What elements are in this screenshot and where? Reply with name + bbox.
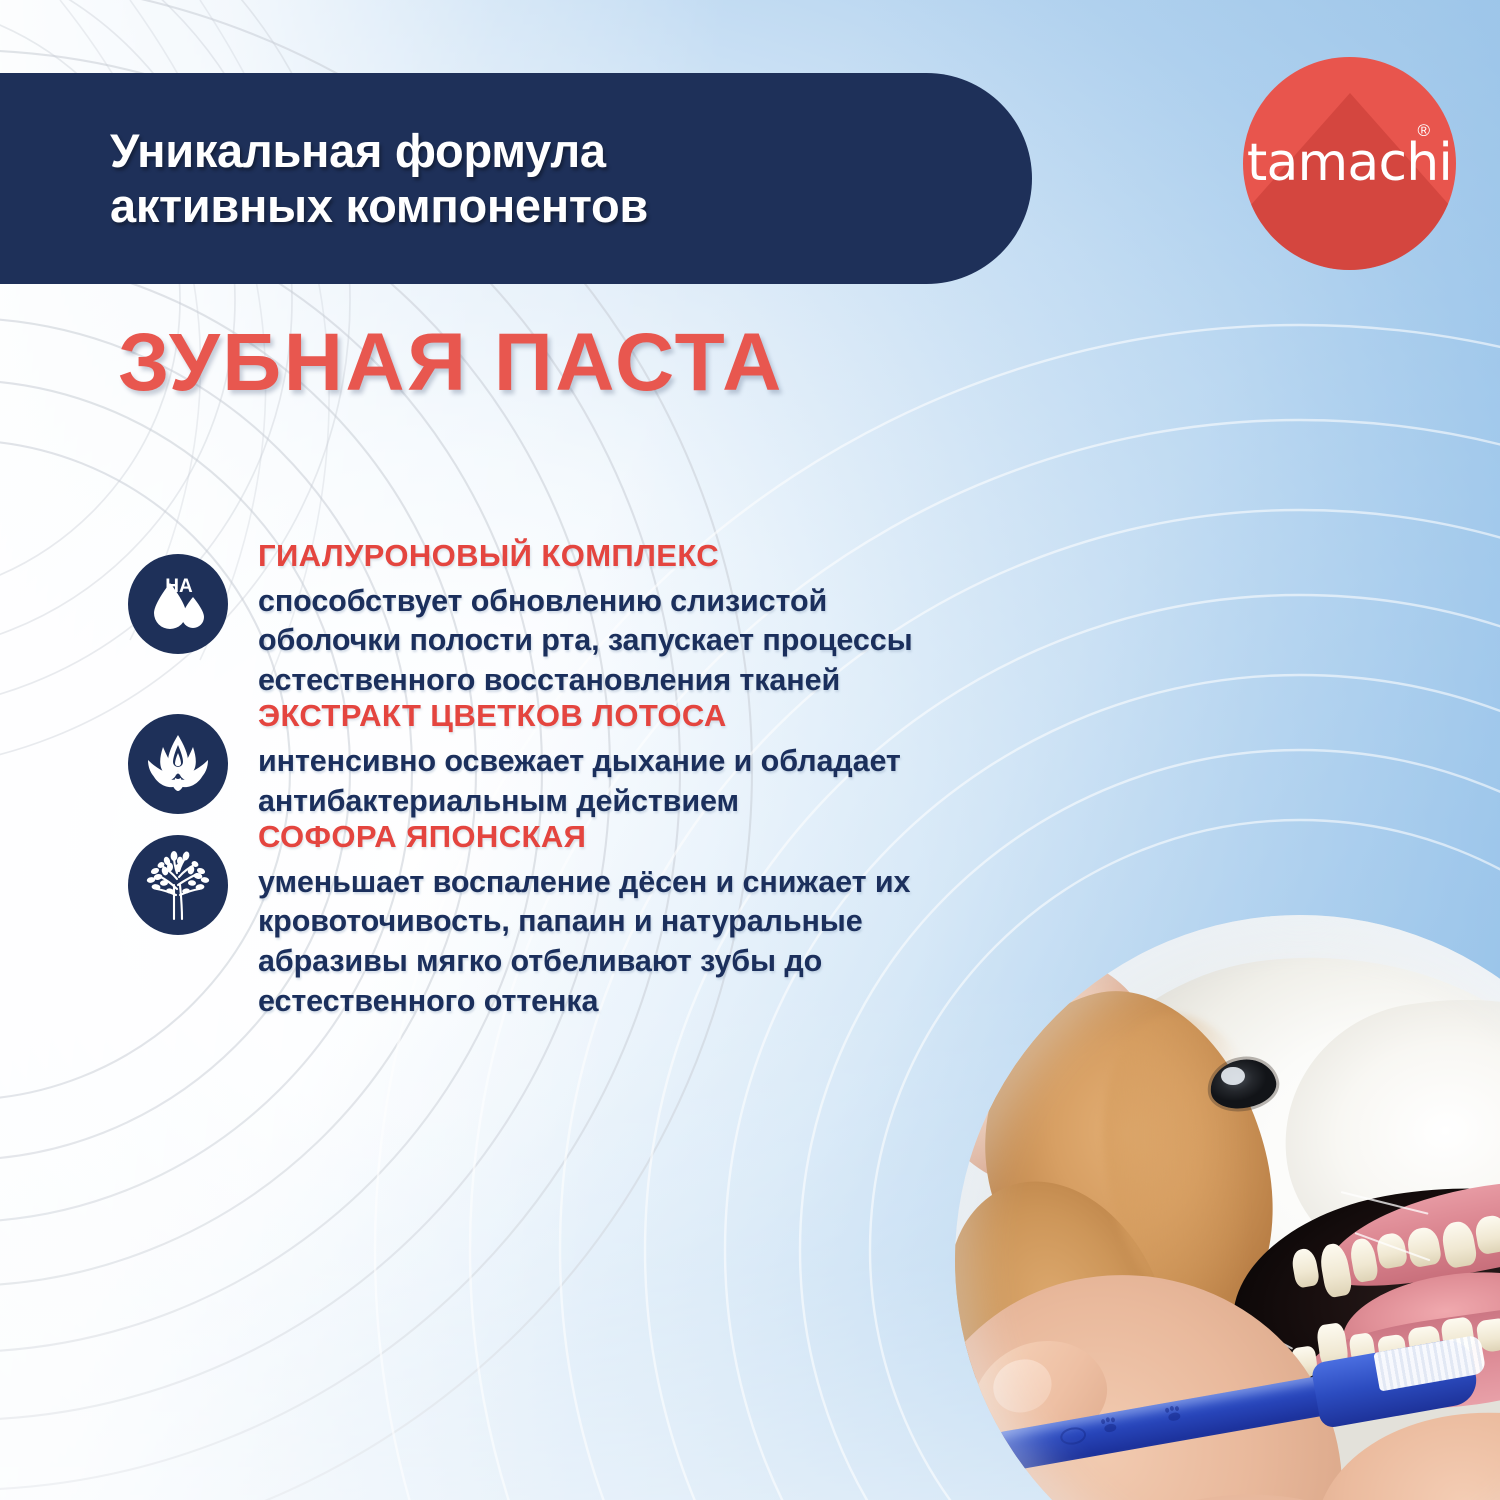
- feature-title: СОФОРА ЯПОНСКАЯ: [258, 821, 910, 854]
- photo-content: [955, 915, 1500, 1500]
- logo-wordmark: tamachi: [1243, 132, 1456, 192]
- feature-text-block: СОФОРА ЯПОНСКАЯ уменьшает воспаление дёс…: [258, 821, 910, 1021]
- product-title: ЗУБНАЯ ПАСТА: [118, 316, 784, 410]
- tree-icon: [128, 835, 228, 935]
- registered-trademark-icon: ®: [1417, 121, 1430, 141]
- header-banner: Уникальная формула активных компонентов: [0, 73, 1032, 284]
- feature-item-sophora: СОФОРА ЯПОНСКАЯ уменьшает воспаление дёс…: [128, 821, 1008, 1021]
- banner-title: Уникальная формула активных компонентов: [110, 124, 648, 234]
- water-drops-ha-icon: HA: [128, 554, 228, 654]
- feature-text-block: ГИАЛУРОНОВЫЙ КОМПЛЕКС способствует обнов…: [258, 540, 913, 700]
- feature-title: ГИАЛУРОНОВЫЙ КОМПЛЕКС: [258, 540, 913, 573]
- dog-toothbrushing-photo: [955, 915, 1500, 1500]
- poster-canvas: Уникальная формула активных компонентов …: [0, 0, 1500, 1500]
- svg-text:HA: HA: [165, 576, 193, 597]
- brand-logo[interactable]: tamachi ®: [1243, 57, 1456, 270]
- feature-item-hyaluronic: HA ГИАЛУРОНОВЫЙ КОМПЛЕКС способствует об…: [128, 540, 1008, 700]
- lotus-flower-icon: [128, 714, 228, 814]
- feature-body: интенсивно освежает дыхание и обладает а…: [258, 742, 901, 821]
- feature-list: HA ГИАЛУРОНОВЫЙ КОМПЛЕКС способствует об…: [128, 540, 1008, 1021]
- feature-title: ЭКСТРАКТ ЦВЕТКОВ ЛОТОСА: [258, 700, 901, 733]
- logo-mountain-base: [1243, 215, 1456, 270]
- feature-item-lotus: ЭКСТРАКТ ЦВЕТКОВ ЛОТОСА интенсивно освеж…: [128, 700, 1008, 821]
- feature-body: уменьшает воспаление дёсен и снижает их …: [258, 863, 910, 1022]
- feature-text-block: ЭКСТРАКТ ЦВЕТКОВ ЛОТОСА интенсивно освеж…: [258, 700, 901, 821]
- feature-body: способствует обновлению слизистой оболоч…: [258, 582, 913, 701]
